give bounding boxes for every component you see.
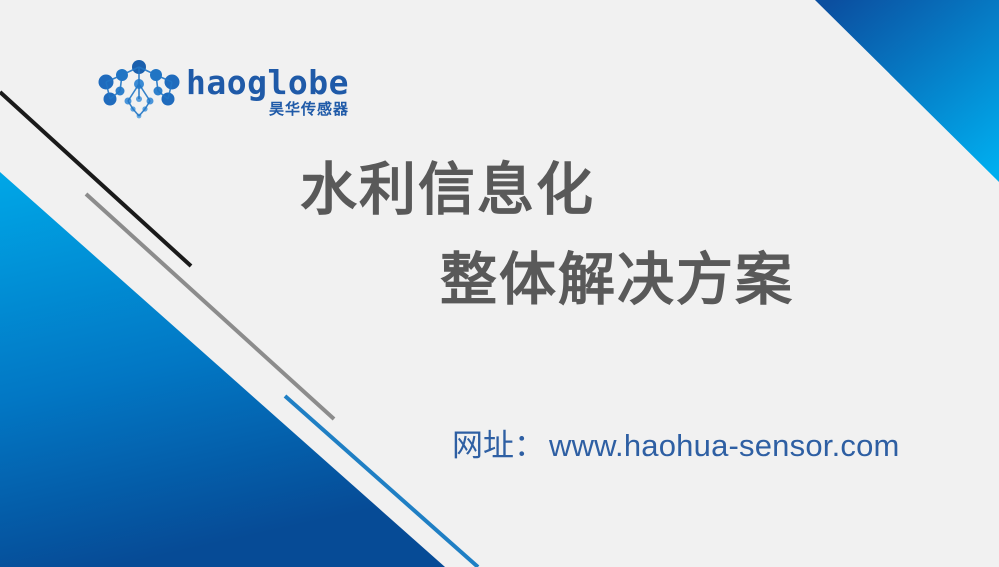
website-label: 网址：: [452, 420, 545, 465]
website-line: 网址： www.haohua-sensor.com: [452, 420, 900, 465]
logo-chinese-name: 昊华传感器: [269, 102, 349, 117]
website-url[interactable]: www.haohua-sensor.com: [549, 428, 900, 464]
slide-canvas: haoglobe 昊华传感器 水利信息化 整体解决方案 网址： www.haoh…: [0, 0, 999, 567]
molecular-network-logo-icon: [98, 60, 180, 122]
page-title-line-2: 整体解决方案: [440, 252, 900, 309]
page-title: 水利信息化 整体解决方案: [300, 162, 900, 309]
right-blue-triangle: [815, 0, 999, 182]
company-logo: haoglobe 昊华传感器: [98, 56, 328, 126]
page-title-line-1: 水利信息化: [300, 162, 900, 219]
logo-wordmark-group: haoglobe 昊华传感器: [186, 66, 349, 117]
logo-wordmark: haoglobe: [186, 66, 349, 99]
